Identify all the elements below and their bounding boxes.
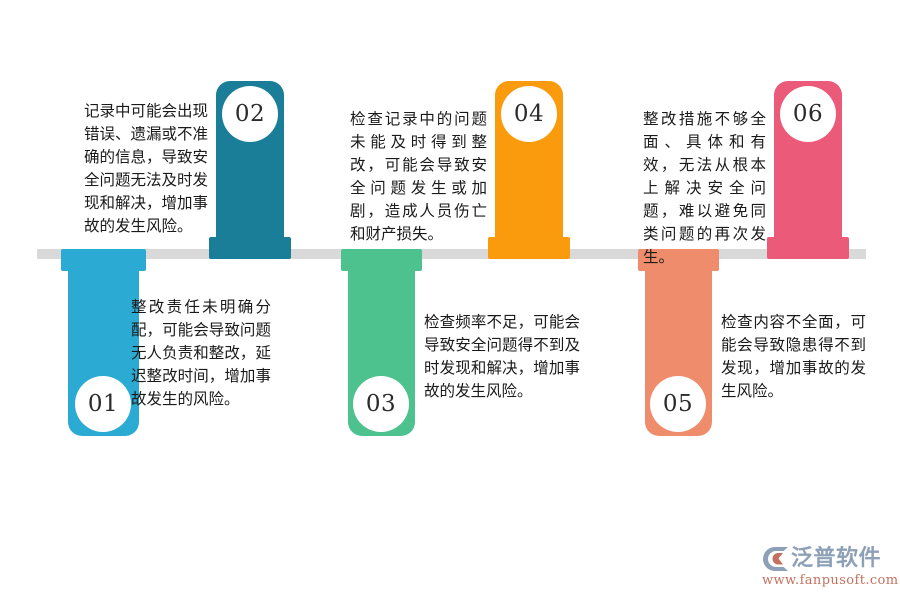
- badge-03: 03: [353, 376, 409, 432]
- badge-02-number: 02: [235, 101, 265, 127]
- brand-logo: 泛普软件 www.fanpusoft.com: [762, 546, 894, 590]
- pillar-02-foot: [209, 237, 291, 259]
- badge-04-number: 04: [514, 101, 544, 127]
- description-06: 整改措施不够全面、具体和有效，无法从根本上解决安全问题，难以避免同类问题的再次发…: [643, 108, 766, 269]
- pillar-06-foot: [767, 237, 849, 259]
- badge-02: 02: [222, 86, 278, 142]
- brand-name: 泛普软件: [791, 547, 881, 571]
- description-05: 检查内容不全面，可能会导致隐患得不到发现，增加事故的发生风险。: [721, 311, 866, 403]
- infographic-canvas: 01 整改责任未明确分配，可能会导致问题无人负责和整改，延迟整改时间，增加事故发…: [0, 0, 900, 600]
- badge-06: 06: [780, 86, 836, 142]
- badge-01: 01: [75, 376, 131, 432]
- badge-06-number: 06: [793, 101, 823, 127]
- badge-01-number: 01: [88, 391, 118, 417]
- badge-05: 05: [650, 376, 706, 432]
- badge-04: 04: [501, 86, 557, 142]
- badge-05-number: 05: [663, 391, 693, 417]
- description-02: 记录中可能会出现错误、遗漏或不准确的信息，导致安全问题无法及时发现和解决，增加事…: [84, 100, 208, 238]
- description-01: 整改责任未明确分配，可能会导致问题无人负责和整改，延迟整改时间，增加事故发生的风…: [131, 296, 271, 411]
- brand-logo-row: 泛普软件: [762, 546, 894, 572]
- badge-03-number: 03: [366, 391, 396, 417]
- description-03: 检查频率不足，可能会导致安全问题得不到及时发现和解决，增加事故的发生风险。: [424, 311, 580, 403]
- brand-url: www.fanpusoft.com: [762, 573, 894, 588]
- description-04: 检查记录中的问题未能及时得到整改，可能会导致安全问题发生或加剧，造成人员伤亡和财…: [350, 108, 487, 246]
- fanpu-logo-icon: [762, 547, 788, 571]
- pillar-04-foot: [488, 237, 570, 259]
